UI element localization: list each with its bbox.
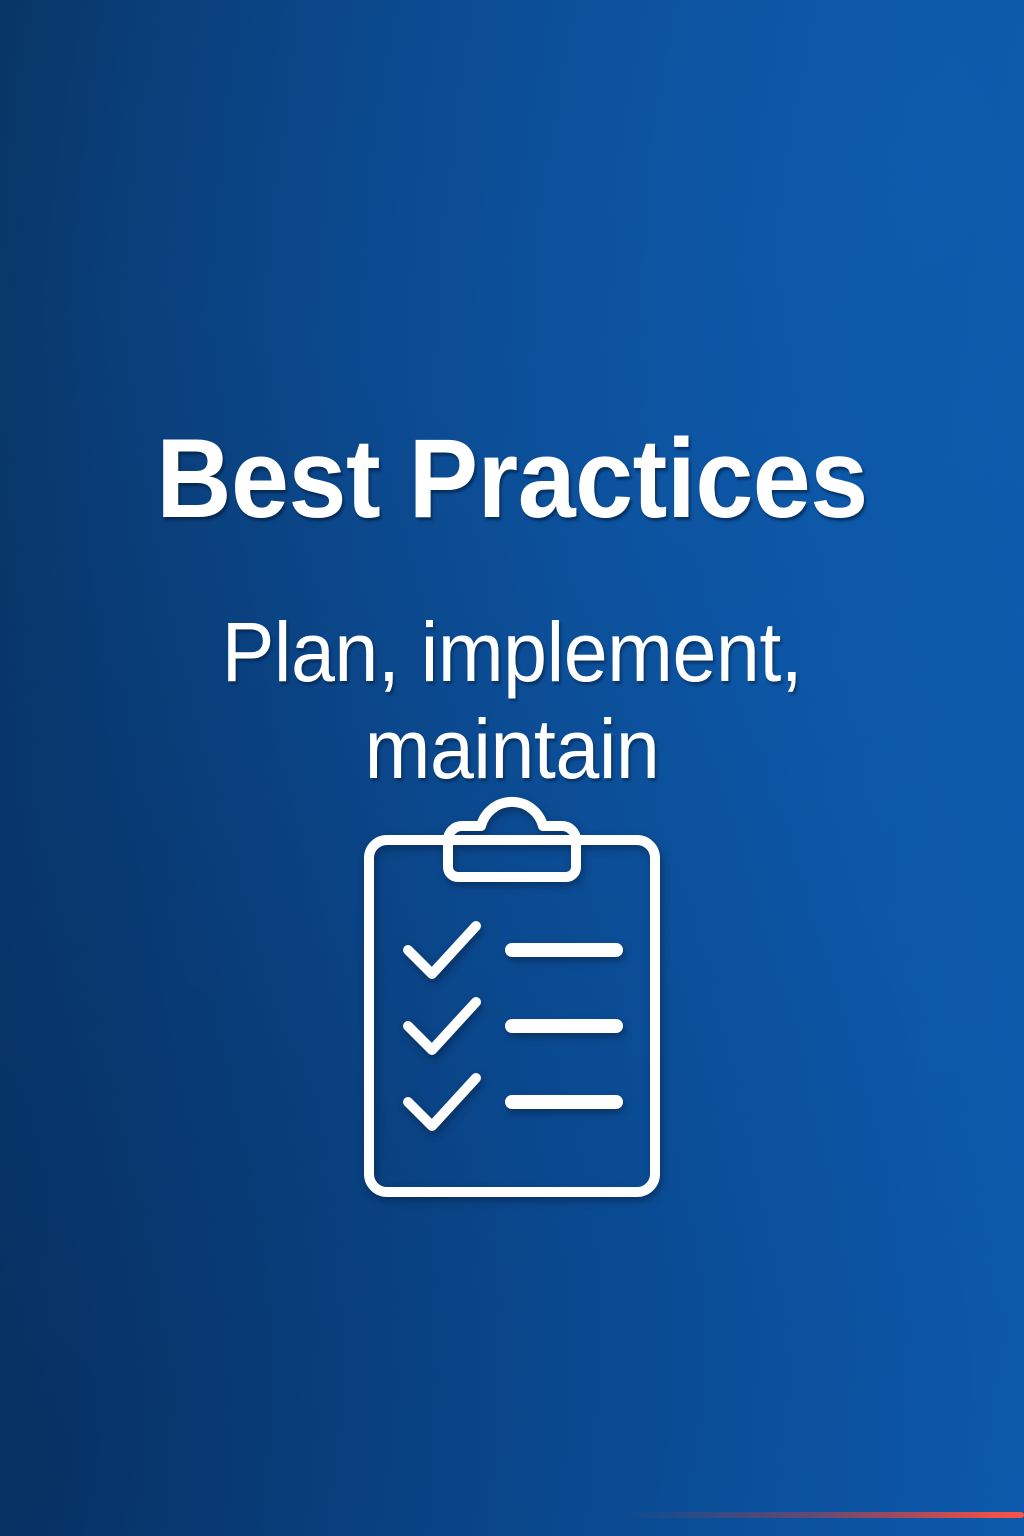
check-icon-1 xyxy=(408,926,476,974)
slide-canvas: Best Practices Plan, implement, maintain xyxy=(0,0,1024,1536)
page-title: Best Practices xyxy=(36,423,988,535)
check-icon-2 xyxy=(408,1002,476,1050)
slide-content: Best Practices Plan, implement, maintain xyxy=(0,0,1024,1536)
page-subtitle: Plan, implement, maintain xyxy=(144,604,881,799)
clipboard-checklist-icon xyxy=(352,788,672,1204)
accent-rule xyxy=(620,1512,1024,1518)
check-icon-3 xyxy=(408,1078,476,1126)
clipboard-body xyxy=(369,840,655,1192)
